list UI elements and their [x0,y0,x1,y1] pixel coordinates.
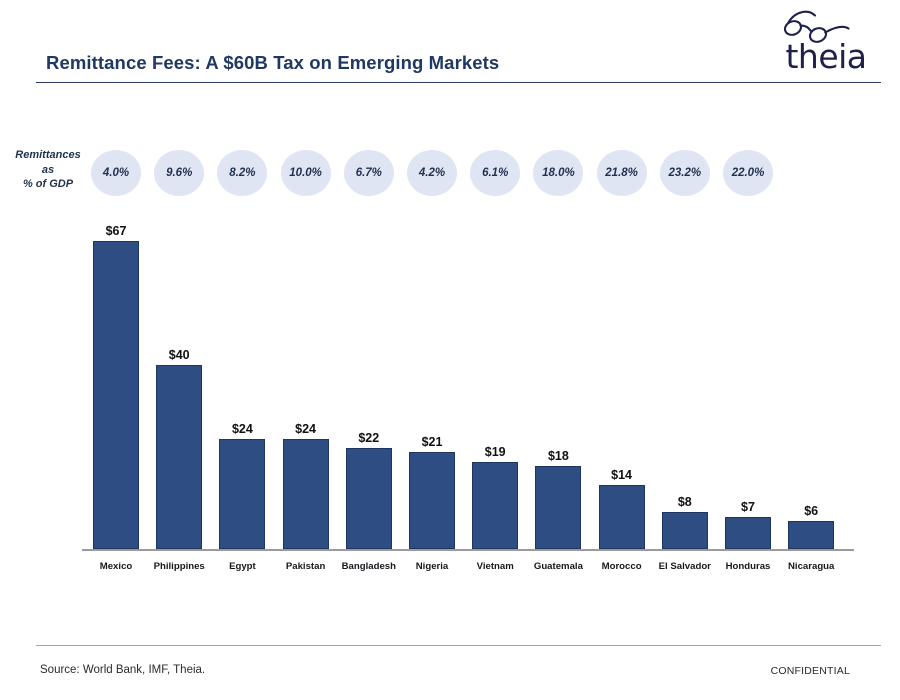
bar-group: $24Egypt [219,230,265,590]
bar[interactable] [156,365,202,549]
bar[interactable] [346,448,392,549]
bar-chart: $67Mexico$40Philippines$24Egypt$24Pakist… [0,0,900,700]
bar[interactable] [93,241,139,549]
bar[interactable] [409,452,455,549]
footer-divider [36,645,881,646]
bar-group: $21Nigeria [409,230,455,590]
bar-value-label: $18 [521,449,595,463]
bar[interactable] [662,512,708,549]
bar-group: $8El Salvador [662,230,708,590]
bar-category-label: Nicaragua [766,561,856,572]
bar-group: $22Bangladesh [346,230,392,590]
bar-group: $6Nicaragua [788,230,834,590]
bar-value-label: $40 [142,348,216,362]
bar-group: $7Honduras [725,230,771,590]
bar-group: $19Vietnam [472,230,518,590]
bar-group: $24Pakistan [283,230,329,590]
source-note: Source: World Bank, IMF, Theia. [40,664,205,676]
bar[interactable] [599,485,645,549]
bar-group: $14Morocco [599,230,645,590]
bar-value-label: $6 [774,504,848,518]
bar-value-label: $14 [585,468,659,482]
bar-group: $18Guatemala [535,230,581,590]
bar[interactable] [219,439,265,549]
bar[interactable] [725,517,771,549]
bar-group: $67Mexico [93,230,139,590]
bar[interactable] [535,466,581,549]
bar[interactable] [788,521,834,549]
bar[interactable] [283,439,329,549]
bar-group: $40Philippines [156,230,202,590]
bar[interactable] [472,462,518,549]
confidential-marker: CONFIDENTIAL [771,665,850,677]
bar-value-label: $67 [79,224,153,238]
